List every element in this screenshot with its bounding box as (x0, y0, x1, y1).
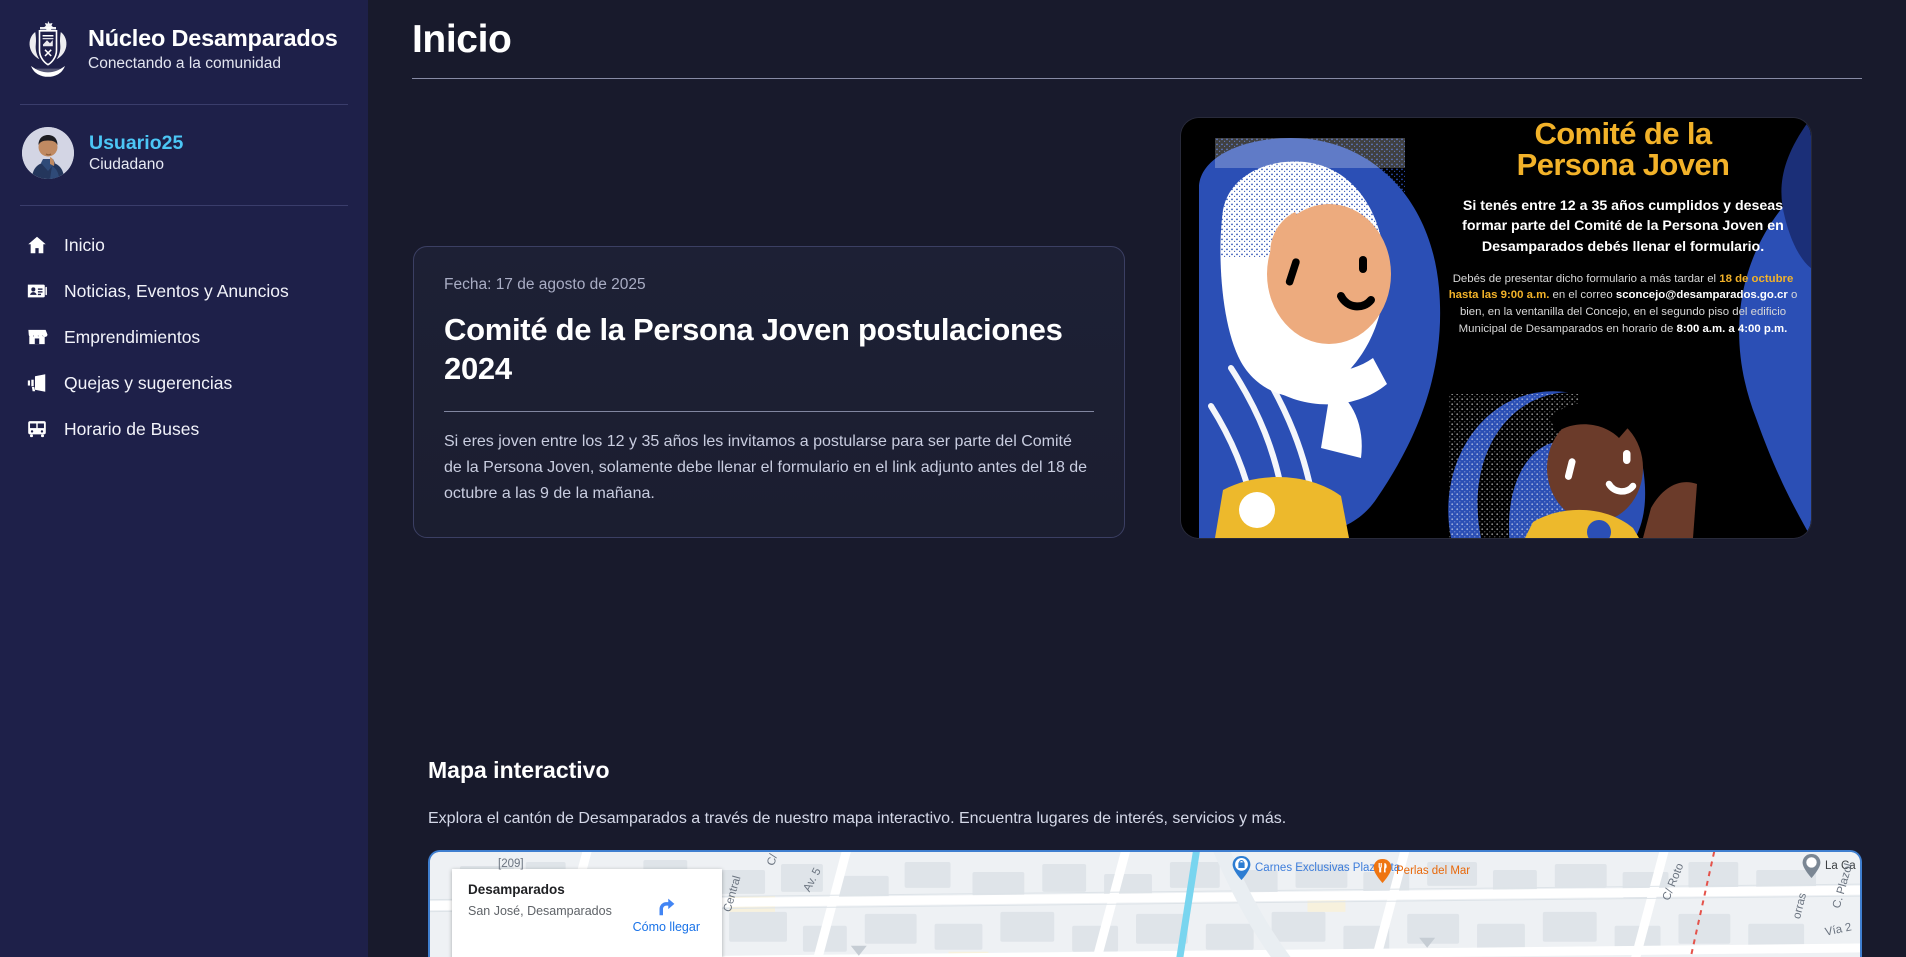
news-date: Fecha: 17 de agosto de 2025 (444, 275, 1094, 295)
poster-heading-line1: Comité de la (1447, 118, 1799, 149)
sidebar-item-quejas[interactable]: Quejas y sugerencias (0, 360, 368, 406)
shop-pin-icon (1232, 856, 1251, 880)
map-place-name: Desamparados (468, 882, 612, 898)
directions-label: Cómo llegar (633, 920, 700, 935)
poster-lead: Si tenés entre 12 a 35 años cumplidos y … (1447, 196, 1799, 256)
news-title: Comité de la Persona Joven postulaciones… (444, 310, 1094, 388)
avatar (22, 127, 74, 179)
map-place-address: San José, Desamparados (468, 904, 612, 919)
map-section-title: Mapa interactivo (412, 756, 1862, 786)
main-content: Inicio Fecha: 17 de agosto de 2025 Comit… (368, 0, 1906, 957)
sidebar-item-buses[interactable]: Horario de Buses (0, 406, 368, 452)
brand-title: Núcleo Desamparados (88, 25, 338, 51)
user-role: Ciudadano (89, 156, 183, 174)
poster-detail: Debés de presentar dicho formulario a má… (1447, 271, 1799, 338)
sidebar-item-label: Noticias, Eventos y Anuncios (64, 281, 289, 302)
poi-label: Perlas del Mar (1396, 865, 1470, 878)
sidebar-item-inicio[interactable]: Inicio (0, 222, 368, 268)
map-street-label-209: [209] (498, 858, 524, 870)
sidebar-item-label: Horario de Buses (64, 419, 199, 440)
page-title: Inicio (412, 16, 1862, 65)
bus-icon (26, 418, 48, 440)
brand-subtitle: Conectando a la comunidad (88, 55, 338, 73)
news-body: Si eres joven entre los 12 y 35 años les… (444, 429, 1094, 508)
interactive-map[interactable]: Desamparados San José, Desamparados Cómo… (428, 850, 1862, 957)
page-header: Inicio (368, 0, 1906, 79)
news-board-icon (26, 280, 48, 302)
poster-detail-mid: en el correo (1549, 289, 1615, 301)
news-card[interactable]: Fecha: 17 de agosto de 2025 Comité de la… (413, 246, 1125, 538)
directions-arrow-icon (656, 896, 677, 917)
news-card-divider (444, 411, 1094, 412)
user-profile[interactable]: Usuario25 Ciudadano (0, 105, 368, 201)
storefront-icon (26, 326, 48, 348)
poster-image[interactable]: Comité de la Persona Joven Si tenés entr… (1181, 118, 1811, 538)
sidebar-item-label: Emprendimientos (64, 327, 200, 348)
sidebar-item-label: Quejas y sugerencias (64, 373, 232, 394)
restaurant-pin-icon (1373, 859, 1392, 883)
poster-email: sconcejo@desamparados.go.cr (1616, 289, 1788, 301)
poster-text-block: Comité de la Persona Joven Si tenés entr… (1447, 118, 1799, 338)
poster-hours: 8:00 a.m. a 4:00 p.m. (1677, 323, 1788, 335)
sidebar: Núcleo Desamparados Conectando a la comu… (0, 0, 368, 957)
map-info-card[interactable]: Desamparados San José, Desamparados Cómo… (452, 869, 722, 957)
poster-detail-pre: Debés de presentar dicho formulario a má… (1453, 273, 1720, 285)
map-section: Mapa interactivo Explora el cantón de De… (368, 756, 1906, 957)
municipal-crest-icon (22, 18, 74, 80)
brand-header: Núcleo Desamparados Conectando a la comu… (0, 0, 368, 100)
hero-section: Fecha: 17 de agosto de 2025 Comité de la… (368, 79, 1906, 639)
map-section-description: Explora el cantón de Desamparados a trav… (412, 808, 1862, 830)
sidebar-item-noticias[interactable]: Noticias, Eventos y Anuncios (0, 268, 368, 314)
sidebar-item-emprendimientos[interactable]: Emprendimientos (0, 314, 368, 360)
poster-heading: Comité de la Persona Joven (1447, 118, 1799, 180)
place-pin-icon (1802, 854, 1821, 878)
sidebar-nav: Inicio Noticias, Eventos y Anuncios (0, 206, 368, 452)
megaphone-icon (26, 372, 48, 394)
sidebar-item-label: Inicio (64, 235, 105, 256)
app-root: Núcleo Desamparados Conectando a la comu… (0, 0, 1906, 957)
poster-container: Comité de la Persona Joven Si tenés entr… (1181, 180, 1811, 590)
poster-heading-line2: Persona Joven (1447, 149, 1799, 180)
home-icon (26, 234, 48, 256)
poi-perlas-del-mar[interactable]: Perlas del Mar (1373, 859, 1470, 883)
directions-button[interactable]: Cómo llegar (633, 882, 708, 957)
user-name: Usuario25 (89, 132, 183, 154)
